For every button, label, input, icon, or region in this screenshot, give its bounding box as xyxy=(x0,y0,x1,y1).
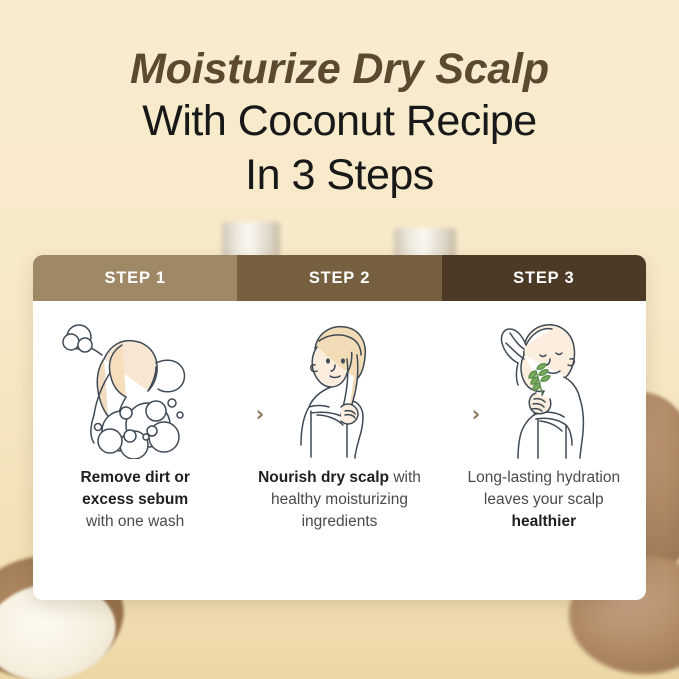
step-3-caption-line2: leaves your scalp xyxy=(484,491,604,508)
promo-graphic: Moisturize Dry Scalp With Coconut Recipe… xyxy=(0,0,679,679)
steps-card: STEP 1 STEP 2 STEP 3 xyxy=(33,255,646,600)
step-1-caption-line3: with one wash xyxy=(86,513,184,530)
chevron-right-icon: › xyxy=(465,403,487,425)
step-body-row: Remove dirt or excess sebum with one was… xyxy=(33,301,646,600)
step-1-caption-line2: excess sebum xyxy=(82,491,188,508)
step-3-caption: Long-lasting hydration leaves your scalp… xyxy=(464,467,625,533)
woman-washing-hair-with-suds-icon xyxy=(43,313,227,461)
title-line-1: Moisturize Dry Scalp xyxy=(0,44,679,94)
step-1-header: STEP 1 xyxy=(33,255,237,301)
woman-with-hair-towel-and-leaf-icon xyxy=(452,313,636,461)
woman-in-towel-holding-hair-icon xyxy=(247,313,431,461)
step-3-panel: Long-lasting hydration leaves your scalp… xyxy=(442,301,646,600)
step-2-caption-line4: ingredients xyxy=(302,513,378,530)
step-2-header: STEP 2 xyxy=(237,255,441,301)
step-3-caption-line1: Long-lasting hydration xyxy=(468,469,621,486)
step-1-caption: Remove dirt or excess sebum with one was… xyxy=(76,467,193,533)
step-2-caption: Nourish dry scalp with healthy moisturiz… xyxy=(254,467,425,533)
step-2-caption-line1: Nourish dry scalp xyxy=(258,469,389,486)
title-line-3: In 3 Steps xyxy=(0,148,679,202)
title-line-2: With Coconut Recipe xyxy=(0,94,679,148)
step-1-panel: Remove dirt or excess sebum with one was… xyxy=(33,301,237,600)
step-2-panel: Nourish dry scalp with healthy moisturiz… xyxy=(237,301,441,600)
step-3-caption-line3: healthier xyxy=(512,513,577,530)
step-2-caption-line3: healthy moisturizing xyxy=(271,491,408,508)
step-3-header: STEP 3 xyxy=(442,255,646,301)
page-title: Moisturize Dry Scalp With Coconut Recipe… xyxy=(0,44,679,202)
step-header-row: STEP 1 STEP 2 STEP 3 xyxy=(33,255,646,301)
step-1-caption-line1: Remove dirt or xyxy=(80,469,189,486)
chevron-right-icon: › xyxy=(249,403,271,425)
step-2-caption-line2: with xyxy=(393,469,421,486)
